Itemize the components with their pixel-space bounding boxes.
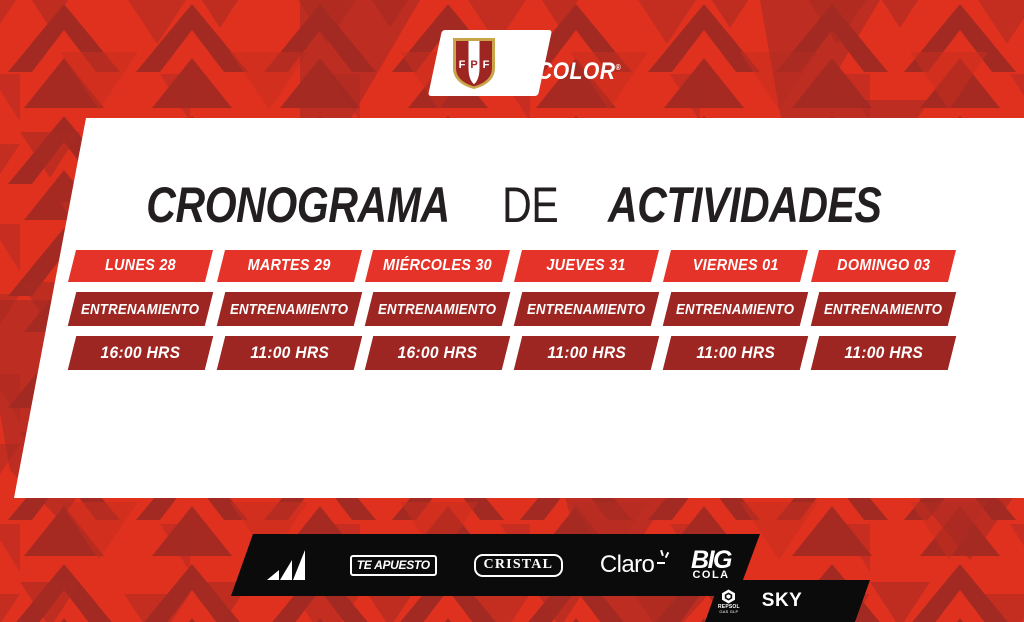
la-bicolor-wordmark: LA BICOLOR® <box>515 43 636 83</box>
schedule-cell-bg: 11:00 HRS <box>662 336 807 370</box>
schedule-cell-bg: ENTRENAMIENTO <box>811 292 956 326</box>
repsol-icon: REPSOL GAS GLP <box>718 589 740 614</box>
claro-label: Claro <box>600 551 654 578</box>
schedule-cell-time-1: 16:00 HRS <box>72 336 209 370</box>
schedule-cell-bg: VIERNES 01 <box>663 250 808 282</box>
schedule-table: LUNES 28MARTES 29MIÉRCOLES 30JUEVES 31VI… <box>0 118 1024 498</box>
schedule-header-row: LUNES 28MARTES 29MIÉRCOLES 30JUEVES 31VI… <box>0 250 1024 282</box>
big-cola-sublabel: COLA <box>692 571 729 580</box>
fpf-shield-icon: F P F <box>451 36 497 90</box>
schedule-cell-text: VIERNES 01 <box>692 257 778 275</box>
schedule-cell-bg: 16:00 HRS <box>68 336 213 370</box>
schedule-cell-bg: ENTRENAMIENTO <box>216 292 361 326</box>
te-apuesto-label: TE APUESTO <box>357 558 430 572</box>
big-cola-label: BIG <box>691 550 731 571</box>
schedule-cell-day-1: LUNES 28 <box>72 250 209 282</box>
schedule-cell-day-4: JUEVES 31 <box>518 250 655 282</box>
cristal-icon: CRISTAL <box>474 554 564 577</box>
schedule-cell-day-5: VIERNES 01 <box>667 250 804 282</box>
schedule-cell-time-4: 11:00 HRS <box>518 336 655 370</box>
sponsor-sky[interactable]: SKY <box>762 590 803 612</box>
schedule-cell-bg: 11:00 HRS <box>216 336 361 370</box>
schedule-cell-text: MIÉRCOLES 30 <box>383 257 492 275</box>
schedule-cell-activity-4: ENTRENAMIENTO <box>518 292 655 326</box>
schedule-cell-time-2: 11:00 HRS <box>221 336 358 370</box>
schedule-cell-day-6: DOMINGO 03 <box>815 250 952 282</box>
schedule-cell-bg: DOMINGO 03 <box>811 250 956 282</box>
schedule-cell-bg: 16:00 HRS <box>365 336 510 370</box>
cristal-label: CRISTAL <box>484 557 554 572</box>
schedule-cell-text: ENTRENAMIENTO <box>676 301 794 318</box>
sponsor-te-apuesto[interactable]: TE APUESTO <box>350 555 437 576</box>
sponsor-bar-primary-items: TE APUESTO CRISTAL Claro <box>255 534 745 596</box>
schedule-cell-text: JUEVES 31 <box>547 257 626 275</box>
schedule-cell-activity-6: ENTRENAMIENTO <box>815 292 952 326</box>
sponsor-cristal[interactable]: CRISTAL <box>474 554 564 577</box>
schedule-cell-bg: ENTRENAMIENTO <box>514 292 659 326</box>
sponsor-big-cola[interactable]: BIG COLA <box>691 550 731 580</box>
schedule-cell-bg: LUNES 28 <box>68 250 213 282</box>
repsol-sublabel: GAS GLP <box>719 610 738 614</box>
schedule-cell-time-3: 16:00 HRS <box>369 336 506 370</box>
registered-mark: ® <box>615 63 621 72</box>
schedule-cell-text: 11:00 HRS <box>696 343 775 363</box>
sponsor-bar-secondary-items: REPSOL GAS GLP SKY <box>718 580 858 622</box>
sponsor-repsol[interactable]: REPSOL GAS GLP <box>718 589 740 614</box>
poster-canvas: F P F LA BICOLOR® CRONOGRAMA DE ACTIVIDA… <box>0 0 1024 622</box>
big-cola-icon: BIG COLA <box>691 550 731 580</box>
schedule-cell-bg: MARTES 29 <box>217 250 362 282</box>
sky-label: SKY <box>762 590 803 611</box>
schedule-cell-bg: ENTRENAMIENTO <box>365 292 510 326</box>
schedule-cell-activity-5: ENTRENAMIENTO <box>667 292 804 326</box>
schedule-cell-time-5: 11:00 HRS <box>667 336 804 370</box>
schedule-cell-time-6: 11:00 HRS <box>815 336 952 370</box>
schedule-cell-text: MARTES 29 <box>247 257 330 275</box>
schedule-cell-bg: 11:00 HRS <box>514 336 659 370</box>
svg-text:F: F <box>483 59 490 71</box>
schedule-cell-bg: ENTRENAMIENTO <box>68 292 213 326</box>
schedule-cell-text: 16:00 HRS <box>100 343 180 363</box>
schedule-cell-bg: JUEVES 31 <box>514 250 659 282</box>
claro-spark-icon <box>654 550 670 570</box>
claro-icon: Claro <box>600 551 654 579</box>
schedule-cell-activity-1: ENTRENAMIENTO <box>72 292 209 326</box>
schedule-cell-bg: ENTRENAMIENTO <box>662 292 807 326</box>
schedule-cell-text: ENTRENAMIENTO <box>527 301 645 318</box>
sponsor-claro[interactable]: Claro <box>600 551 654 579</box>
te-apuesto-icon: TE APUESTO <box>350 555 437 576</box>
sponsor-adidas[interactable] <box>265 548 313 582</box>
schedule-cell-day-2: MARTES 29 <box>221 250 358 282</box>
schedule-cell-text: 11:00 HRS <box>547 343 626 363</box>
wordmark-line-2: BICOLOR® <box>515 61 621 83</box>
schedule-cell-day-3: MIÉRCOLES 30 <box>369 250 506 282</box>
schedule-cell-bg: 11:00 HRS <box>811 336 956 370</box>
repsol-hex-icon <box>721 589 736 604</box>
schedule-time-row: 16:00 HRS11:00 HRS16:00 HRS11:00 HRS11:0… <box>0 336 1024 370</box>
schedule-cell-text: DOMINGO 03 <box>837 257 930 275</box>
schedule-cell-text: 11:00 HRS <box>844 343 923 363</box>
adidas-three-stripes-icon <box>265 548 313 582</box>
schedule-cell-text: LUNES 28 <box>105 257 176 275</box>
schedule-cell-bg: MIÉRCOLES 30 <box>365 250 510 282</box>
svg-text:P: P <box>470 59 477 71</box>
sky-icon: SKY <box>762 590 803 612</box>
schedule-activity-row: ENTRENAMIENTOENTRENAMIENTOENTRENAMIENTOE… <box>0 292 1024 326</box>
svg-text:F: F <box>459 59 466 71</box>
fpf-logo: F P F LA BICOLOR® <box>441 32 636 94</box>
schedule-cell-activity-3: ENTRENAMIENTO <box>369 292 506 326</box>
schedule-cell-text: ENTRENAMIENTO <box>81 301 199 318</box>
schedule-cell-text: ENTRENAMIENTO <box>230 301 348 318</box>
schedule-cell-activity-2: ENTRENAMIENTO <box>221 292 358 326</box>
schedule-cell-text: 16:00 HRS <box>398 343 478 363</box>
schedule-cell-text: ENTRENAMIENTO <box>378 301 496 318</box>
schedule-cell-text: 11:00 HRS <box>250 343 329 363</box>
schedule-cell-text: ENTRENAMIENTO <box>824 301 942 318</box>
content-panel-inner: CRONOGRAMA DE ACTIVIDADES LUNES 28MARTES… <box>0 118 1024 498</box>
